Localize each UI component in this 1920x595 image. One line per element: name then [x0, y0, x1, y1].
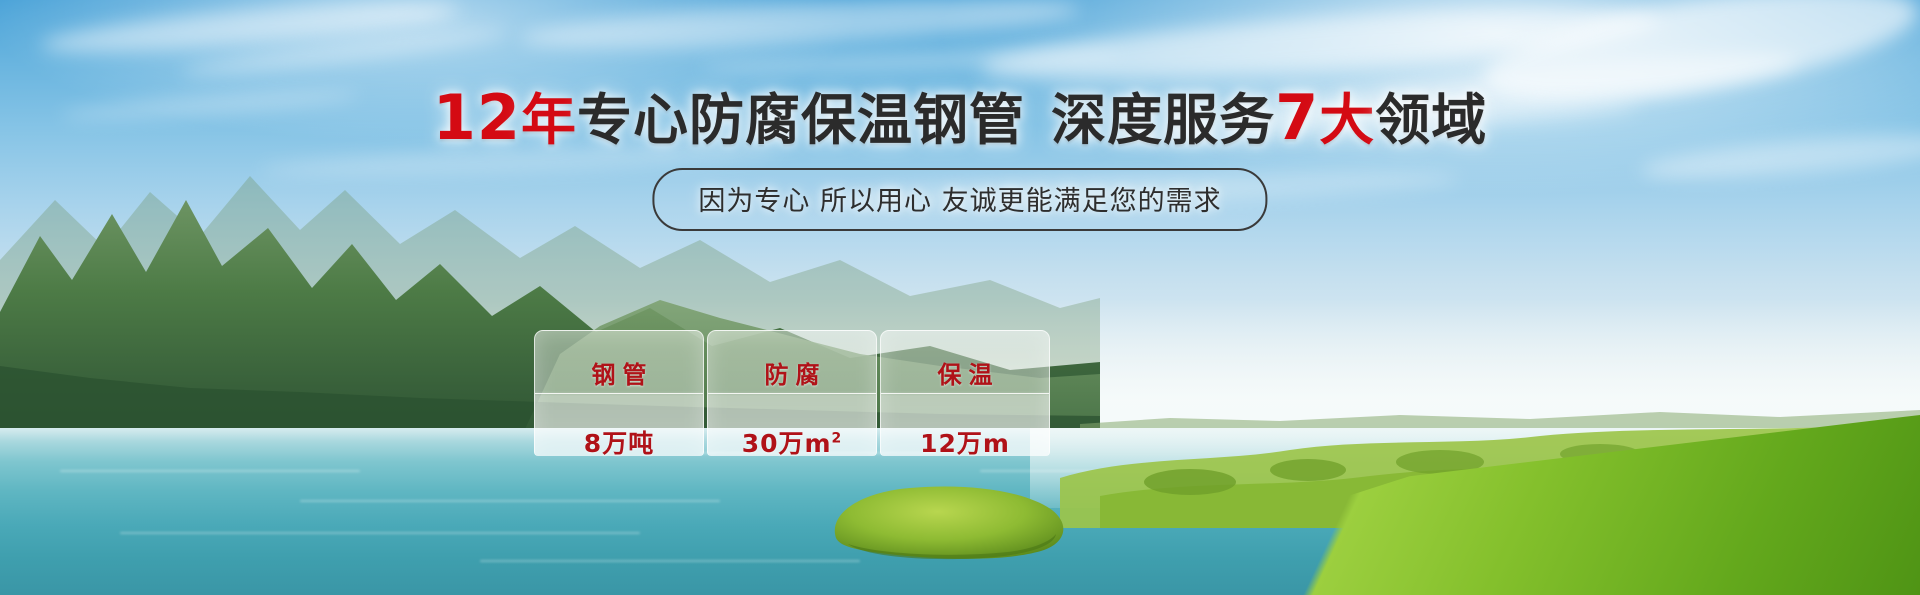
stat-card-value: 12万m [920, 424, 1010, 460]
stat-card-title: 钢管 [585, 355, 654, 390]
stat-card-group: 钢管 8万吨 防腐 30万m2 保温 12万m [534, 330, 1050, 456]
stat-value-text: 12万m [920, 429, 1010, 458]
water-ripple [60, 470, 360, 472]
stat-card-steel-pipe: 钢管 8万吨 [534, 330, 704, 456]
stat-card-insulation: 保温 12万m [880, 330, 1050, 456]
stat-value-superscript: 2 [832, 431, 843, 447]
headline-tail-text: 领域 [1375, 88, 1487, 152]
stat-card-divider [881, 393, 1049, 394]
stat-value-text: 8万吨 [584, 429, 654, 458]
hero-banner: 12年专心防腐保温钢管深度服务7大领域 因为专心 所以用心 友诚更能满足您的需求… [0, 0, 1920, 595]
subtitle-pill: 因为专心 所以用心 友诚更能满足您的需求 [652, 168, 1267, 231]
headline-main-text: 专心防腐保温钢管 [577, 88, 1025, 152]
headline-highlight-number: 7 [1275, 81, 1319, 154]
water-ripple [480, 560, 860, 562]
headline-highlight-suffix: 大 [1319, 88, 1375, 152]
headline-second-text: 深度服务 [1051, 88, 1275, 152]
headline-lead-suffix: 年 [521, 88, 577, 152]
water-ripple [300, 500, 720, 502]
subtitle-text: 因为专心 所以用心 友诚更能满足您的需求 [698, 186, 1221, 217]
headline-lead-number: 12 [433, 81, 521, 154]
stat-card-divider [535, 393, 703, 394]
stat-card-title: 保温 [931, 355, 1000, 390]
page-title: 12年专心防腐保温钢管深度服务7大领域 [0, 86, 1920, 152]
stat-card-value: 8万吨 [584, 424, 654, 460]
grass-island-icon [818, 480, 1078, 562]
water-ripple [120, 532, 640, 534]
stat-value-text: 30万m [742, 429, 832, 458]
stat-card-anticorrosion: 防腐 30万m2 [707, 330, 877, 456]
stat-card-title: 防腐 [758, 355, 827, 390]
stat-card-divider [708, 393, 876, 394]
stat-card-value: 30万m2 [742, 424, 843, 460]
